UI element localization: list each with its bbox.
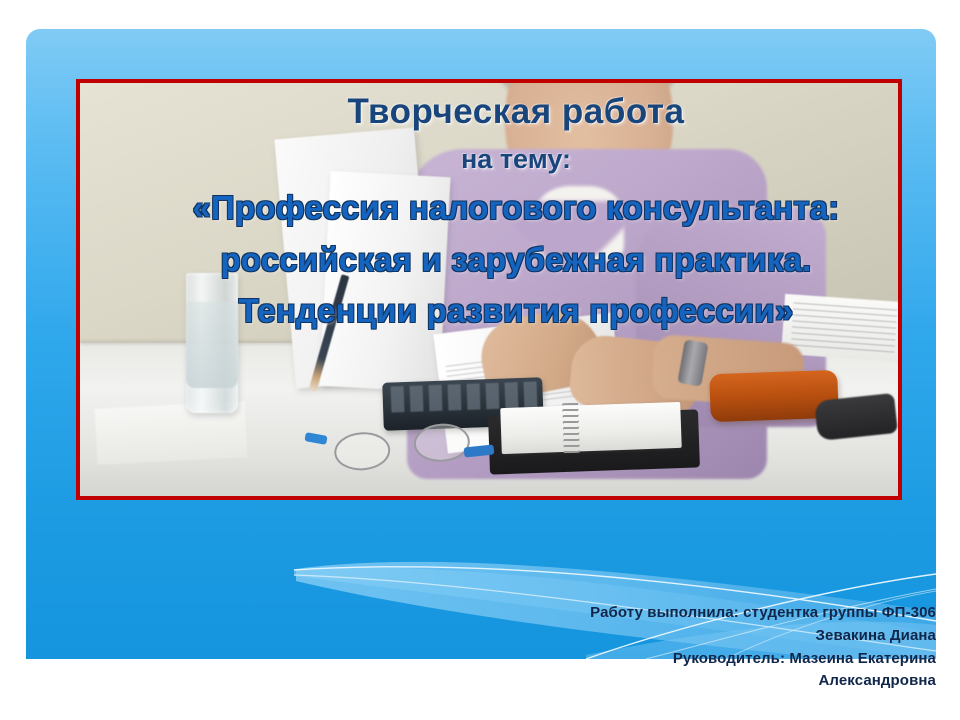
photo-dark-object <box>814 393 898 441</box>
slide-canvas: Творческая работа на тему: «Профессия на… <box>0 0 960 720</box>
author-credits: Работу выполнила: студентка группы ФП-30… <box>400 602 936 693</box>
author-line-student-name: Зевакина Диана <box>400 625 936 648</box>
photo-water-level <box>186 302 238 388</box>
slide-background: Творческая работа на тему: «Профессия на… <box>26 29 936 659</box>
title-photo-frame <box>76 79 902 500</box>
photo-document-right-lines <box>790 302 897 353</box>
photo-planner-spine <box>562 403 580 454</box>
title-photo <box>80 83 898 496</box>
author-line-supervisor: Руководитель: Мазеина Екатерина <box>400 648 936 671</box>
author-line-student-group: Работу выполнила: студентка группы ФП-30… <box>400 602 936 625</box>
photo-eyeglasses-lens-left <box>333 430 392 472</box>
author-line-supervisor-patronymic: Александровна <box>400 670 936 693</box>
photo-planner-pages <box>501 402 682 454</box>
photo-eyeglasses-lens-right <box>412 422 471 464</box>
